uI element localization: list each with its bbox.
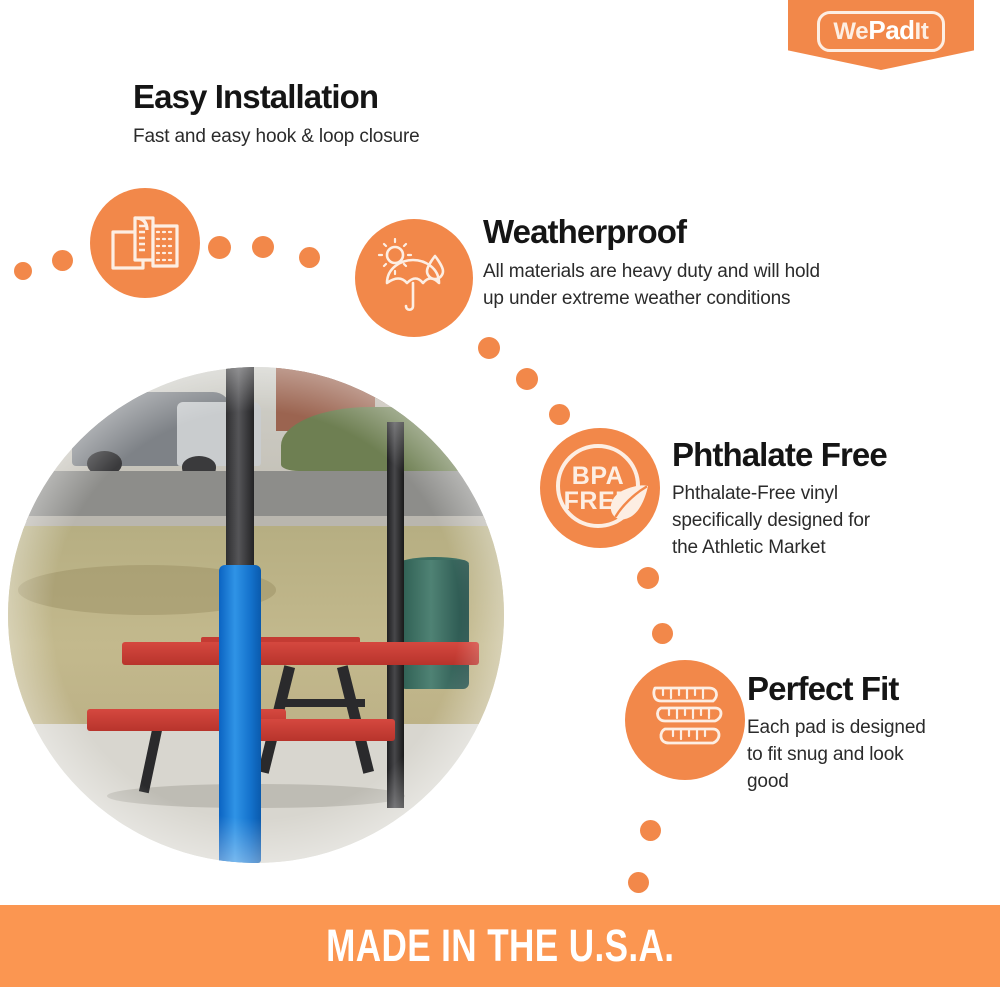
measuring-tape-icon <box>625 660 745 780</box>
trail-dot <box>252 236 274 258</box>
feature-title: Perfect Fit <box>747 671 992 707</box>
trail-dot <box>516 368 538 390</box>
feature-title: Weatherproof <box>483 214 923 250</box>
feature-body-line: the Athletic Market <box>672 535 982 562</box>
feature-body-line: Each pad is designed <box>747 715 992 742</box>
product-photo-scene <box>8 367 504 863</box>
feature-body-line: specifically designed for <box>672 508 982 535</box>
logo-text-it: It <box>915 20 929 44</box>
feature-title: Easy Installation <box>133 79 563 115</box>
umbrella-sun-raindrop-icon <box>355 219 473 337</box>
trail-dot <box>628 872 649 893</box>
logo-text-we: We <box>833 20 868 44</box>
brand-logo-badge: We Pad It <box>788 0 974 70</box>
feature-body: Fast and easy hook & loop closure <box>133 124 563 151</box>
feature-body: Phthalate-Free vinyl specifically design… <box>672 481 982 562</box>
blue-pole-pad <box>219 565 262 863</box>
trail-dot <box>299 247 320 268</box>
made-in-usa-text: MADE IN THE U.S.A. <box>326 920 674 972</box>
trail-dot <box>549 404 570 425</box>
feature-body: Each pad is designed to fit snug and loo… <box>747 715 992 796</box>
trail-dot <box>14 262 32 280</box>
feature-body: All materials are heavy duty and will ho… <box>483 259 923 313</box>
feature-title: Phthalate Free <box>672 437 982 473</box>
feature-weatherproof: Weatherproof All materials are heavy dut… <box>483 214 923 313</box>
trail-dot <box>640 820 661 841</box>
brand-logo-frame: We Pad It <box>817 11 944 52</box>
feature-body-line: All materials are heavy duty and will ho… <box>483 259 923 286</box>
trail-dot <box>478 337 500 359</box>
feature-body-line: to fit snug and look <box>747 742 992 769</box>
logo-text-pad: Pad <box>868 17 914 43</box>
hook-and-loop-icon <box>90 188 200 298</box>
feature-phthalate-free: Phthalate Free Phthalate-Free vinyl spec… <box>672 437 982 562</box>
trail-dot <box>652 623 673 644</box>
feature-perfect-fit: Perfect Fit Each pad is designed to fit … <box>747 671 992 796</box>
feature-body-line: up under extreme weather conditions <box>483 286 923 313</box>
trail-dot <box>637 567 659 589</box>
feature-body-line: good <box>747 769 992 796</box>
bpa-free-leaf-icon: BPA FREE <box>540 428 660 548</box>
product-photo <box>8 367 504 863</box>
made-in-usa-banner: MADE IN THE U.S.A. <box>0 905 1000 987</box>
trail-dot <box>52 250 73 271</box>
feature-body-line: Phthalate-Free vinyl <box>672 481 982 508</box>
bpa-icon-text-line1: BPA <box>572 462 624 490</box>
feature-easy-installation: Easy Installation Fast and easy hook & l… <box>133 79 563 151</box>
feature-body-line: Fast and easy hook & loop closure <box>133 124 563 151</box>
trail-dot <box>208 236 231 259</box>
